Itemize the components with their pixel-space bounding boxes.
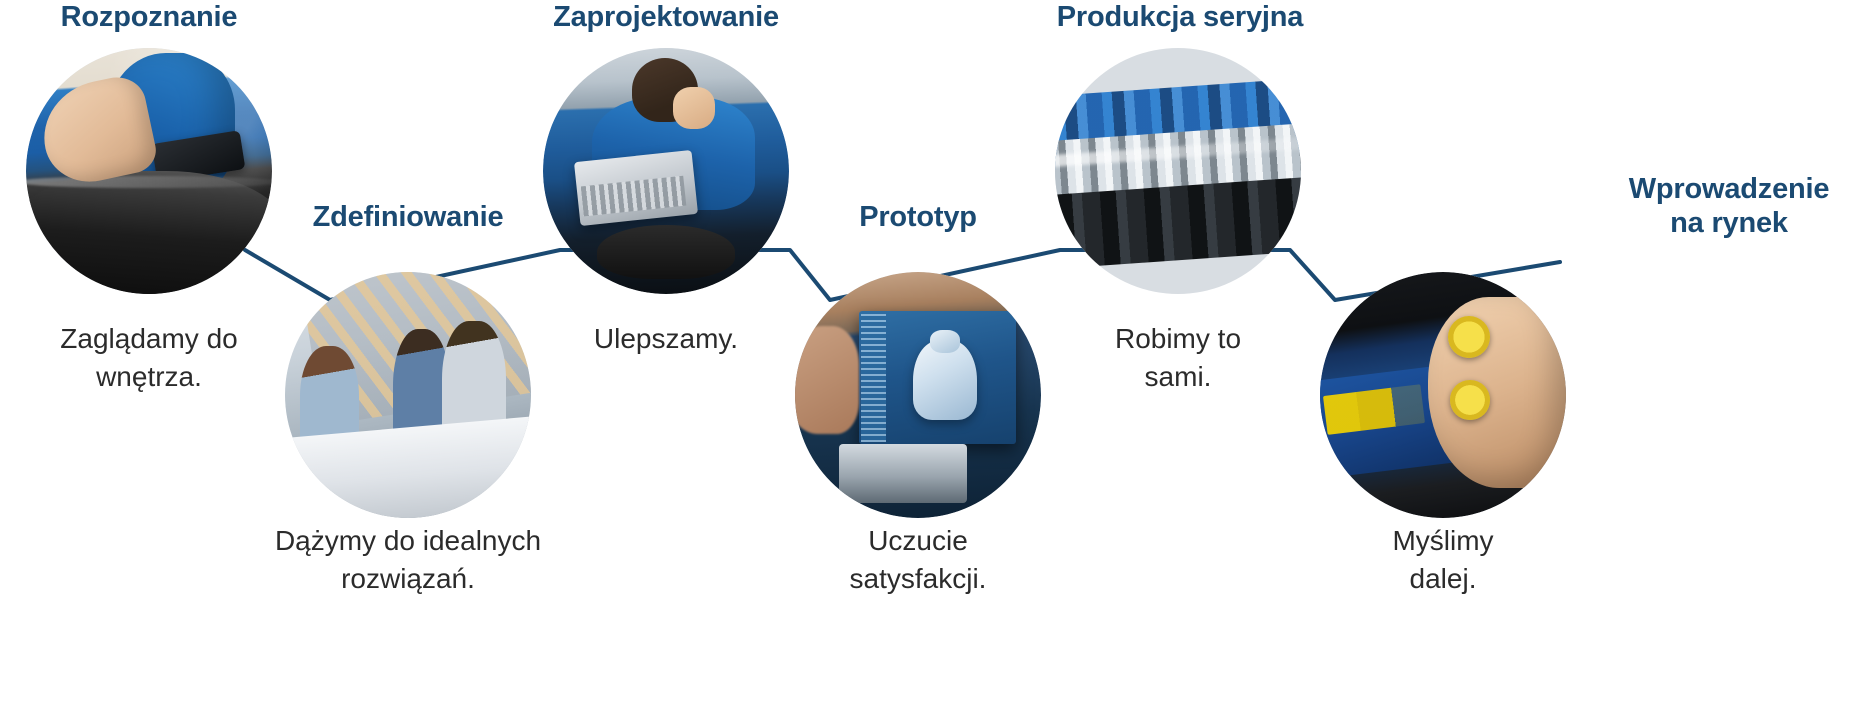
step-caption-rozpoznanie: Zaglądamy do wnętrza.	[24, 320, 274, 396]
step-circle-prototyp[interactable]	[795, 272, 1041, 518]
step-circle-rozpoznanie[interactable]	[26, 48, 272, 294]
hd-sticker-secondary-icon	[1450, 380, 1489, 419]
step-circle-wprowadzenie-na-rynek[interactable]	[1320, 272, 1566, 518]
hand-shape	[1428, 297, 1566, 489]
hand-applying-hd-label-to-package-icon	[1320, 272, 1566, 518]
engineers-team-at-drawing-table-icon	[285, 272, 531, 518]
step-title-zaprojektowanie: Zaprojektowanie	[536, 0, 796, 34]
hd-sticker-icon	[1448, 316, 1490, 358]
person-left-shape	[300, 346, 359, 459]
step-title-rozpoznanie: Rozpoznanie	[24, 0, 274, 34]
process-infographic: Rozpoznanie Zaglądamy do wnętrza. Zdefin…	[0, 0, 1869, 705]
step-circle-zaprojektowanie[interactable]	[543, 48, 789, 294]
shock-absorber-production-line-icon	[1055, 48, 1301, 294]
step-caption-produkcja-seryjna: Robimy to sami.	[1048, 320, 1308, 396]
step-circle-zdefiniowanie[interactable]	[285, 272, 531, 518]
step-caption-wprowadzenie-na-rynek: Myślimy dalej.	[1310, 522, 1576, 598]
car-bonnet-shape	[26, 171, 272, 294]
cad-part-model-shape	[913, 341, 977, 420]
step-caption-zdefiniowanie: Dążymy do idealnych rozwiązań.	[250, 522, 566, 598]
operator-hand-shape	[795, 326, 859, 434]
step-caption-zaprojektowanie: Ulepszamy.	[536, 320, 796, 358]
mechanic-with-laptop-at-engine-bay-icon	[543, 48, 789, 294]
mechanic-with-tablet-at-car-bonnet-icon	[26, 48, 272, 294]
machine-rig-shape	[839, 444, 967, 503]
step-title-zdefiniowanie: Zdefiniowanie	[283, 200, 533, 234]
bonnet-highlight	[26, 176, 272, 188]
step-title-wprowadzenie-na-rynek: Wprowadzenie na rynek	[1588, 172, 1869, 240]
step-title-produkcja-seryjna: Produkcja seryjna	[1045, 0, 1315, 34]
step-caption-prototyp: Uczucie satysfakcji.	[778, 522, 1058, 598]
person-middle-shape	[393, 329, 450, 457]
mechanic-face-shape	[673, 87, 715, 129]
person-right-shape	[442, 321, 506, 459]
engine-hose-shape	[597, 225, 735, 279]
cad-model-on-monitor-icon	[795, 272, 1041, 518]
pointing-hand-shape	[413, 444, 457, 478]
step-circle-produkcja-seryjna[interactable]	[1055, 48, 1301, 294]
step-title-prototyp: Prototyp	[793, 200, 1043, 234]
cad-toolbar-shape	[861, 314, 886, 442]
